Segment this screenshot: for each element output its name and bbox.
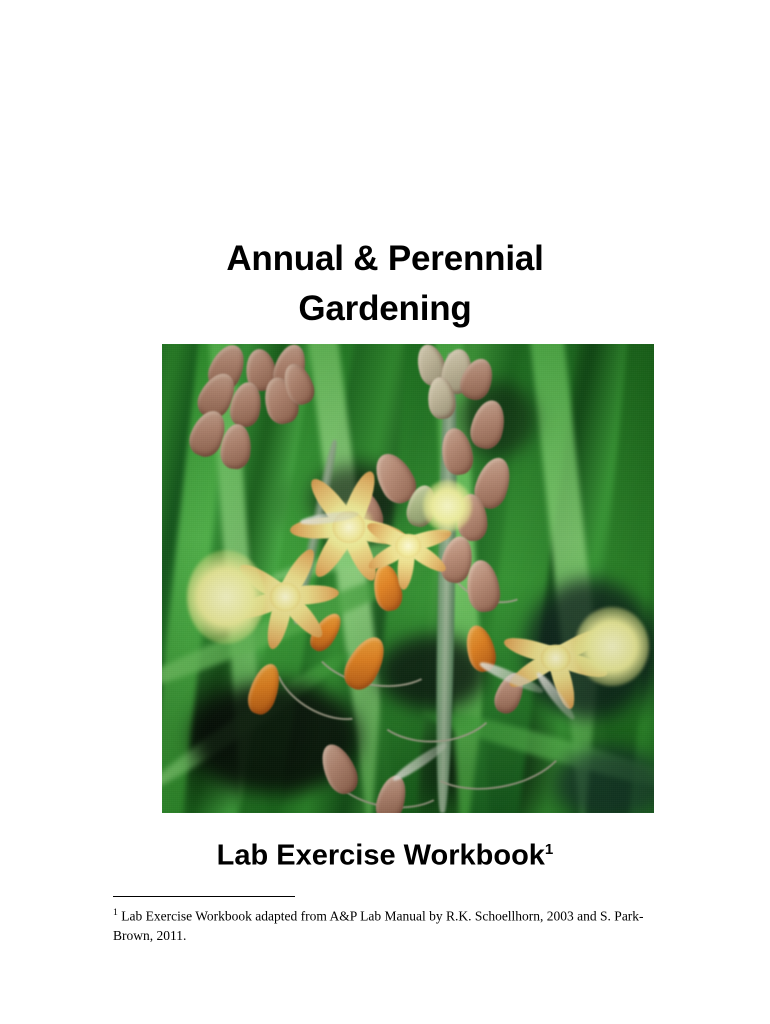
flower-center: [395, 533, 421, 557]
title-line-2: Gardening: [0, 284, 770, 334]
flower-stamen-puff: [423, 480, 472, 532]
flower-stamen-puff: [187, 550, 266, 644]
footnote: 1 Lab Exercise Workbook adapted from A&P…: [113, 903, 668, 945]
footnote-marker: 1: [113, 907, 118, 918]
title-line-1: Annual & Perennial: [0, 234, 770, 284]
flower-center: [540, 645, 571, 672]
footnote-text: Lab Exercise Workbook adapted from A&P L…: [113, 909, 644, 943]
subtitle-label: Lab Exercise Workbook: [217, 840, 545, 872]
page-title: Annual & Perennial Gardening: [0, 234, 770, 334]
photo-canvas: [162, 344, 654, 813]
page-subtitle: Lab Exercise Workbook1: [0, 833, 770, 873]
document-page: Annual & Perennial Gardening: [0, 0, 770, 1024]
flower-center: [270, 583, 301, 612]
flower-stamen-puff: [575, 607, 649, 687]
bulbine-flower-photograph: [162, 344, 654, 813]
subtitle-text: Lab Exercise Workbook1: [0, 833, 770, 873]
footnote-separator: [113, 896, 295, 897]
subtitle-footnote-marker: 1: [545, 841, 553, 858]
